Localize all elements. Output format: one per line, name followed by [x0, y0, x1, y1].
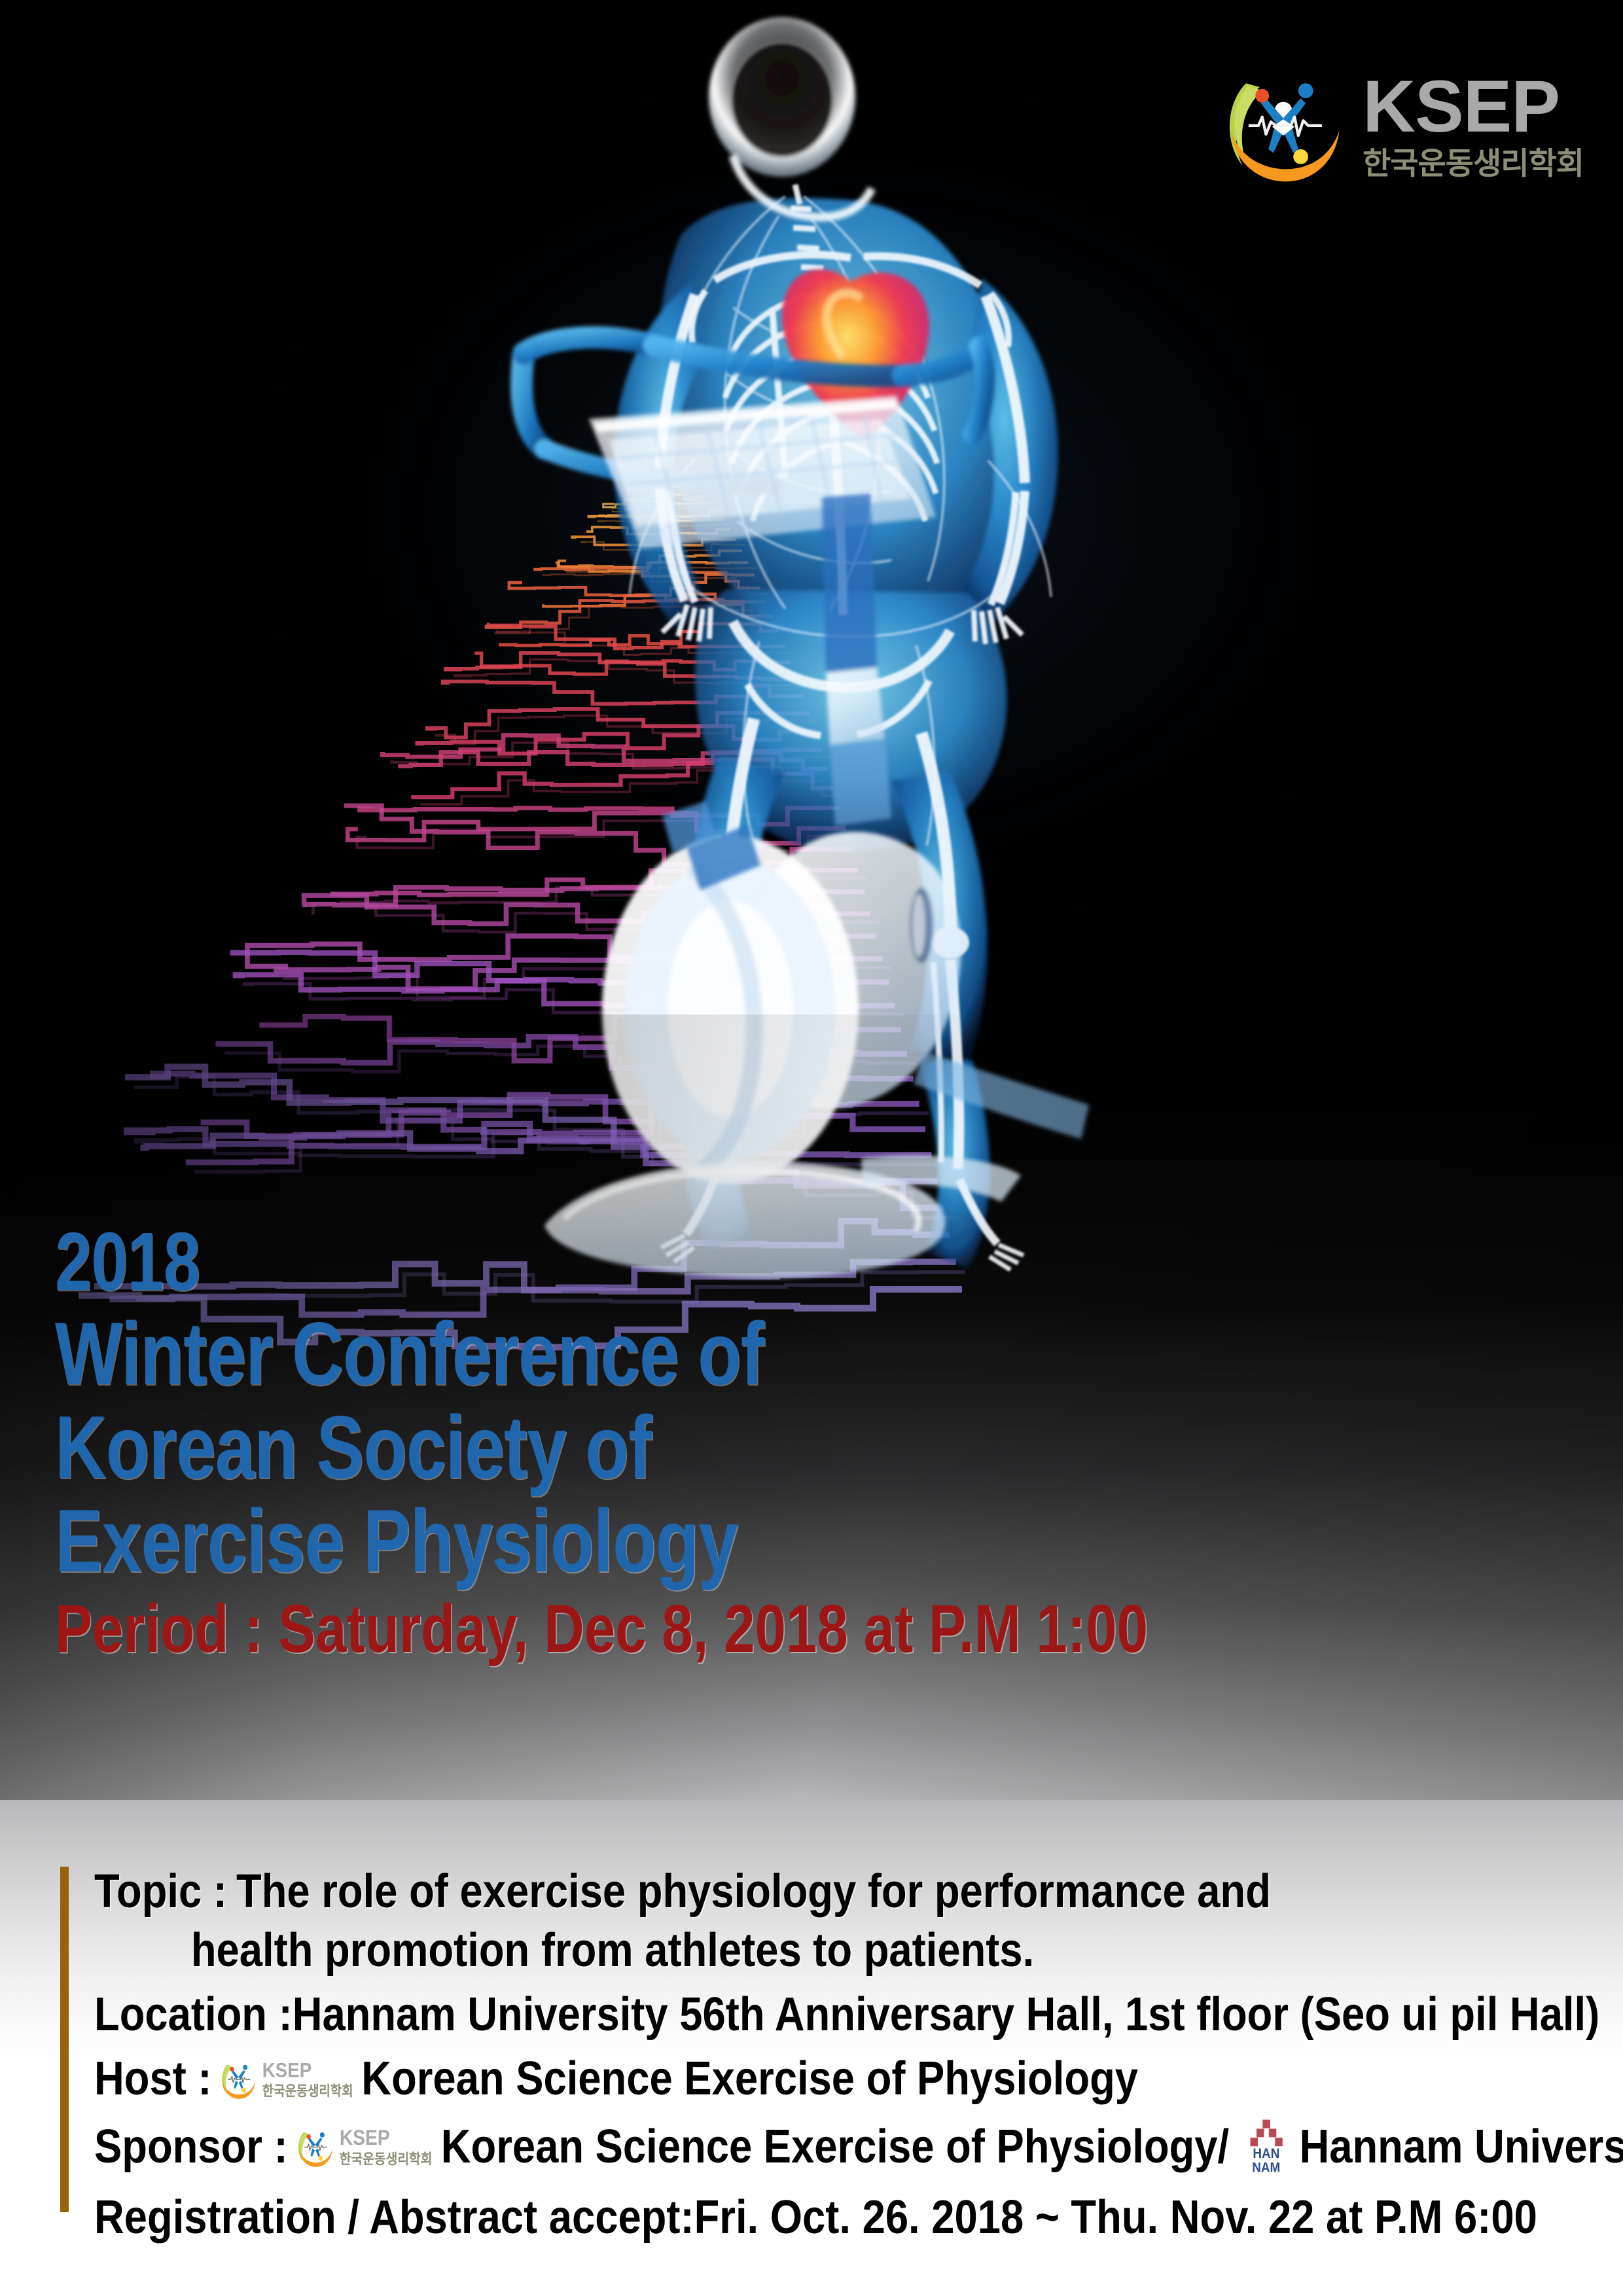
title-year: 2018: [55, 1223, 893, 1301]
gold-accent-bar: [60, 1867, 69, 2212]
ksep-korean-name: 한국운동생리학회: [1363, 149, 1584, 179]
detail-row-registration: Registration / Abstract accept: Fri. Oct…: [94, 2194, 1406, 2241]
svg-text:HAN: HAN: [1253, 2146, 1279, 2161]
event-period: Period : Saturday, Dec 8, 2018 at P.M 1:…: [55, 1595, 914, 1663]
sponsor-separator: /: [1217, 2123, 1229, 2170]
conference-poster: KSEP 한국운동생리학회 2018 Winter Conference of …: [0, 0, 1623, 2296]
location-label: Location :: [94, 1991, 293, 2038]
svg-text:한국운동생리학회: 한국운동생리학회: [340, 2151, 433, 2167]
poster-details-block: Topic : The role of exercise physiology …: [60, 1867, 1585, 2241]
sponsor-value-ksep: Korean Science Exercise of Physiology: [441, 2123, 1218, 2170]
ksep-logo-icon-sponsor: KSEP 한국운동생리학회: [294, 2124, 434, 2170]
detail-row-topic-cont: health promotion from athletes to patien…: [94, 1927, 1406, 1974]
ksep-logo-icon-host: KSEP 한국운동생리학회: [219, 2056, 355, 2102]
title-line-4: Exercise Physiology: [55, 1499, 893, 1583]
poster-title-block: 2018 Winter Conference of Korean Society…: [55, 1223, 1102, 1663]
detail-row-sponsor: Sponsor : KSEP: [94, 2117, 1406, 2177]
topic-line-2: health promotion from athletes to patien…: [191, 1927, 1034, 1974]
sponsor-value-hannam: Hannam University: [1299, 2123, 1623, 2170]
ksep-header-logo: KSEP 한국운동생리학회: [1221, 62, 1584, 187]
host-label: Host :: [94, 2055, 212, 2102]
registration-label: Registration / Abstract accept:: [94, 2194, 694, 2241]
svg-text:NAM: NAM: [1252, 2160, 1280, 2175]
svg-text:KSEP: KSEP: [262, 2059, 312, 2082]
sponsor-label: Sponsor :: [94, 2123, 288, 2170]
svg-text:한국운동생리학회: 한국운동생리학회: [262, 2083, 353, 2099]
hannam-university-logo-icon: HAN NAM: [1240, 2117, 1293, 2177]
host-value: Korean Science Exercise of Physiology: [361, 2055, 1138, 2102]
ksep-acronym: KSEP: [1363, 70, 1584, 143]
location-value: Hannam University 56th Anniversary Hall,…: [293, 1991, 1600, 2038]
svg-text:KSEP: KSEP: [340, 2126, 390, 2149]
registration-value: Fri. Oct. 26. 2018 ~ Thu. Nov. 22 at P.M…: [694, 2194, 1537, 2241]
ksep-logo-icon: [1221, 62, 1346, 187]
ksep-wordmark: KSEP 한국운동생리학회: [1363, 70, 1584, 179]
detail-row-location: Location : Hannam University 56th Annive…: [94, 1991, 1406, 2038]
detail-row-topic: Topic : The role of exercise physiology …: [94, 1868, 1406, 1915]
topic-label: Topic :: [94, 1868, 227, 1915]
topic-line-1: The role of exercise physiology for perf…: [236, 1868, 1271, 1915]
title-line-3: Korean Society of: [55, 1405, 893, 1490]
title-line-2: Winter Conference of: [55, 1312, 893, 1396]
detail-row-host: Host : KSEP: [94, 2055, 1406, 2102]
